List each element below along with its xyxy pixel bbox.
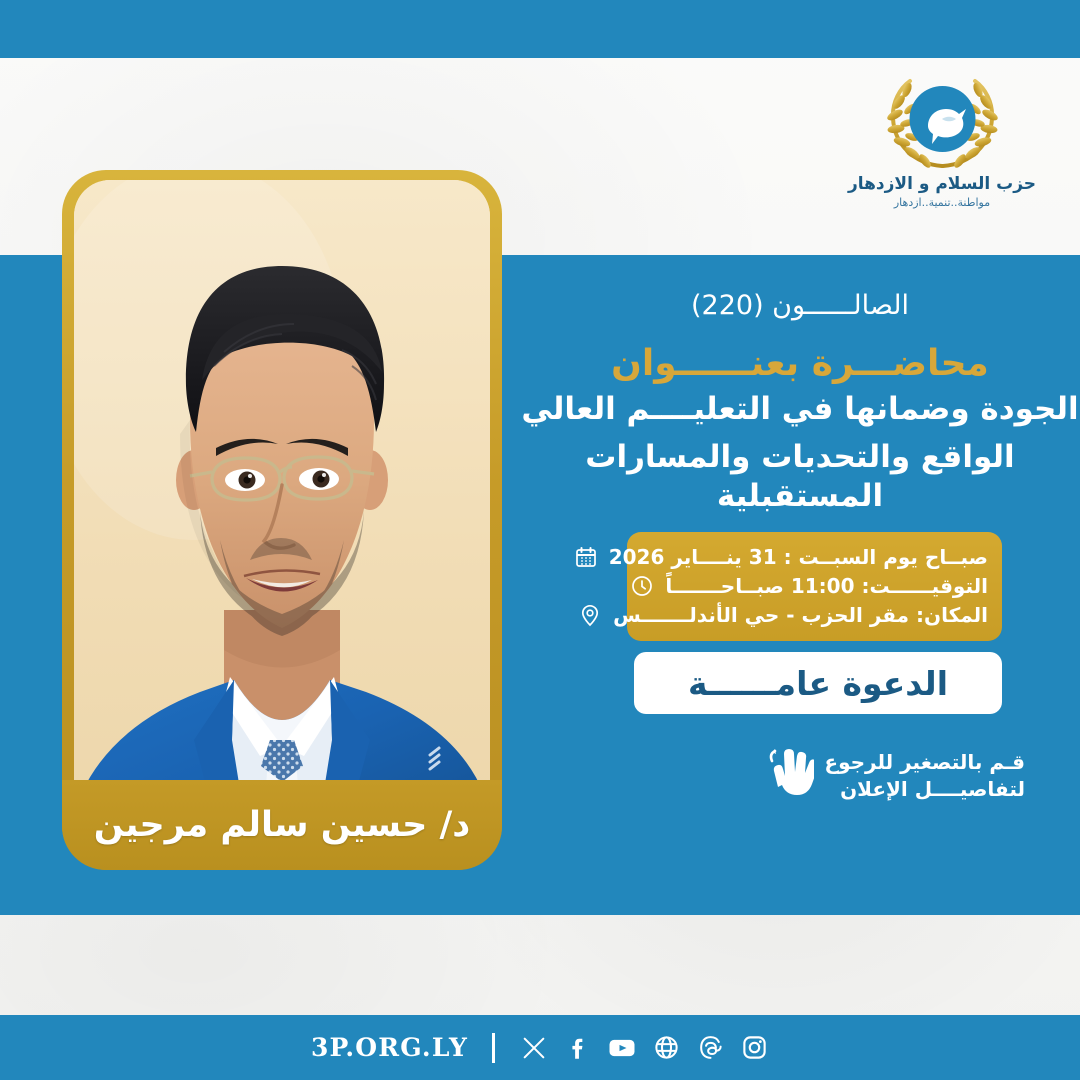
speaker-name: د/ حسين سالم مرجين <box>94 805 471 845</box>
speaker-portrait-illustration <box>74 180 490 852</box>
location-pin-icon <box>577 602 603 628</box>
clock-icon <box>629 573 655 599</box>
salon-number: الصالــــــون (220) <box>520 290 1080 321</box>
dove-in-laurel-wreath-emblem-icon <box>880 72 1005 170</box>
threads-icon[interactable] <box>695 1033 725 1063</box>
pinch-hand-icon <box>764 745 814 807</box>
lecture-kicker: محاضـــرة بعنــــــوان <box>520 343 1080 384</box>
x-twitter-icon[interactable] <box>519 1033 549 1063</box>
public-invitation-badge: الدعوة عامــــــة <box>634 652 1002 714</box>
zoom-out-hint-text: قـم بالتصغير للرجوع لتفاصيــــل الإعلان <box>824 749 1025 803</box>
speaker-photo <box>74 180 490 852</box>
youtube-icon[interactable] <box>607 1033 637 1063</box>
top-blue-bar <box>0 0 1080 58</box>
lecture-title-line-2: الواقع والتحديات والمسارات المستقبلية <box>520 438 1080 517</box>
calendar-icon <box>573 544 599 570</box>
footer: 3P.ORG.LY <box>0 1015 1080 1080</box>
event-location-row: المكان: مقر الحزب - حي الأندلـــــــس <box>641 602 988 628</box>
party-logo: حزب السلام و الازدهار مواطنة..تنمية..ازد… <box>842 72 1042 217</box>
footer-divider <box>492 1033 495 1063</box>
event-date-text: صبــاح يوم السبــت : 31 ينــــاير 2026 <box>609 545 988 569</box>
public-invitation-label: الدعوة عامــــــة <box>688 664 948 703</box>
zoom-out-hint: قـم بالتصغير للرجوع لتفاصيــــل الإعلان <box>765 745 1025 807</box>
speaker-photo-card: د/ حسين سالم مرجين <box>62 170 502 870</box>
poster-canvas: حزب السلام و الازدهار مواطنة..تنمية..ازد… <box>0 0 1080 1080</box>
lecture-title-line-1: الجودة وضمانها في التعليــــم العالي <box>520 390 1080 430</box>
announcement-content: الصالــــــون (220) محاضـــرة بعنــــــو… <box>520 290 1080 543</box>
instagram-icon[interactable] <box>739 1033 769 1063</box>
event-date-row: صبــاح يوم السبــت : 31 ينــــاير 2026 <box>641 544 988 570</box>
website-url[interactable]: 3P.ORG.LY <box>311 1033 468 1062</box>
event-time-row: التوقيــــــت: 11:00 صبــاحـــــــاً <box>641 573 988 599</box>
speaker-name-plate: د/ حسين سالم مرجين <box>62 780 502 870</box>
zoom-out-hint-line-2: لتفاصيــــل الإعلان <box>824 776 1025 803</box>
zoom-out-hint-line-1: قـم بالتصغير للرجوع <box>824 749 1025 776</box>
party-logo-slogan: مواطنة..تنمية..ازدهار <box>842 196 1042 209</box>
event-location-text: المكان: مقر الحزب - حي الأندلـــــــس <box>613 603 988 627</box>
social-links <box>519 1033 769 1063</box>
event-details-box: صبــاح يوم السبــت : 31 ينــــاير 2026 ا… <box>627 532 1002 641</box>
party-logo-name: حزب السلام و الازدهار <box>842 174 1042 194</box>
event-time-text: التوقيــــــت: 11:00 صبــاحـــــــاً <box>665 574 988 598</box>
website-globe-icon[interactable] <box>651 1033 681 1063</box>
facebook-icon[interactable] <box>563 1033 593 1063</box>
